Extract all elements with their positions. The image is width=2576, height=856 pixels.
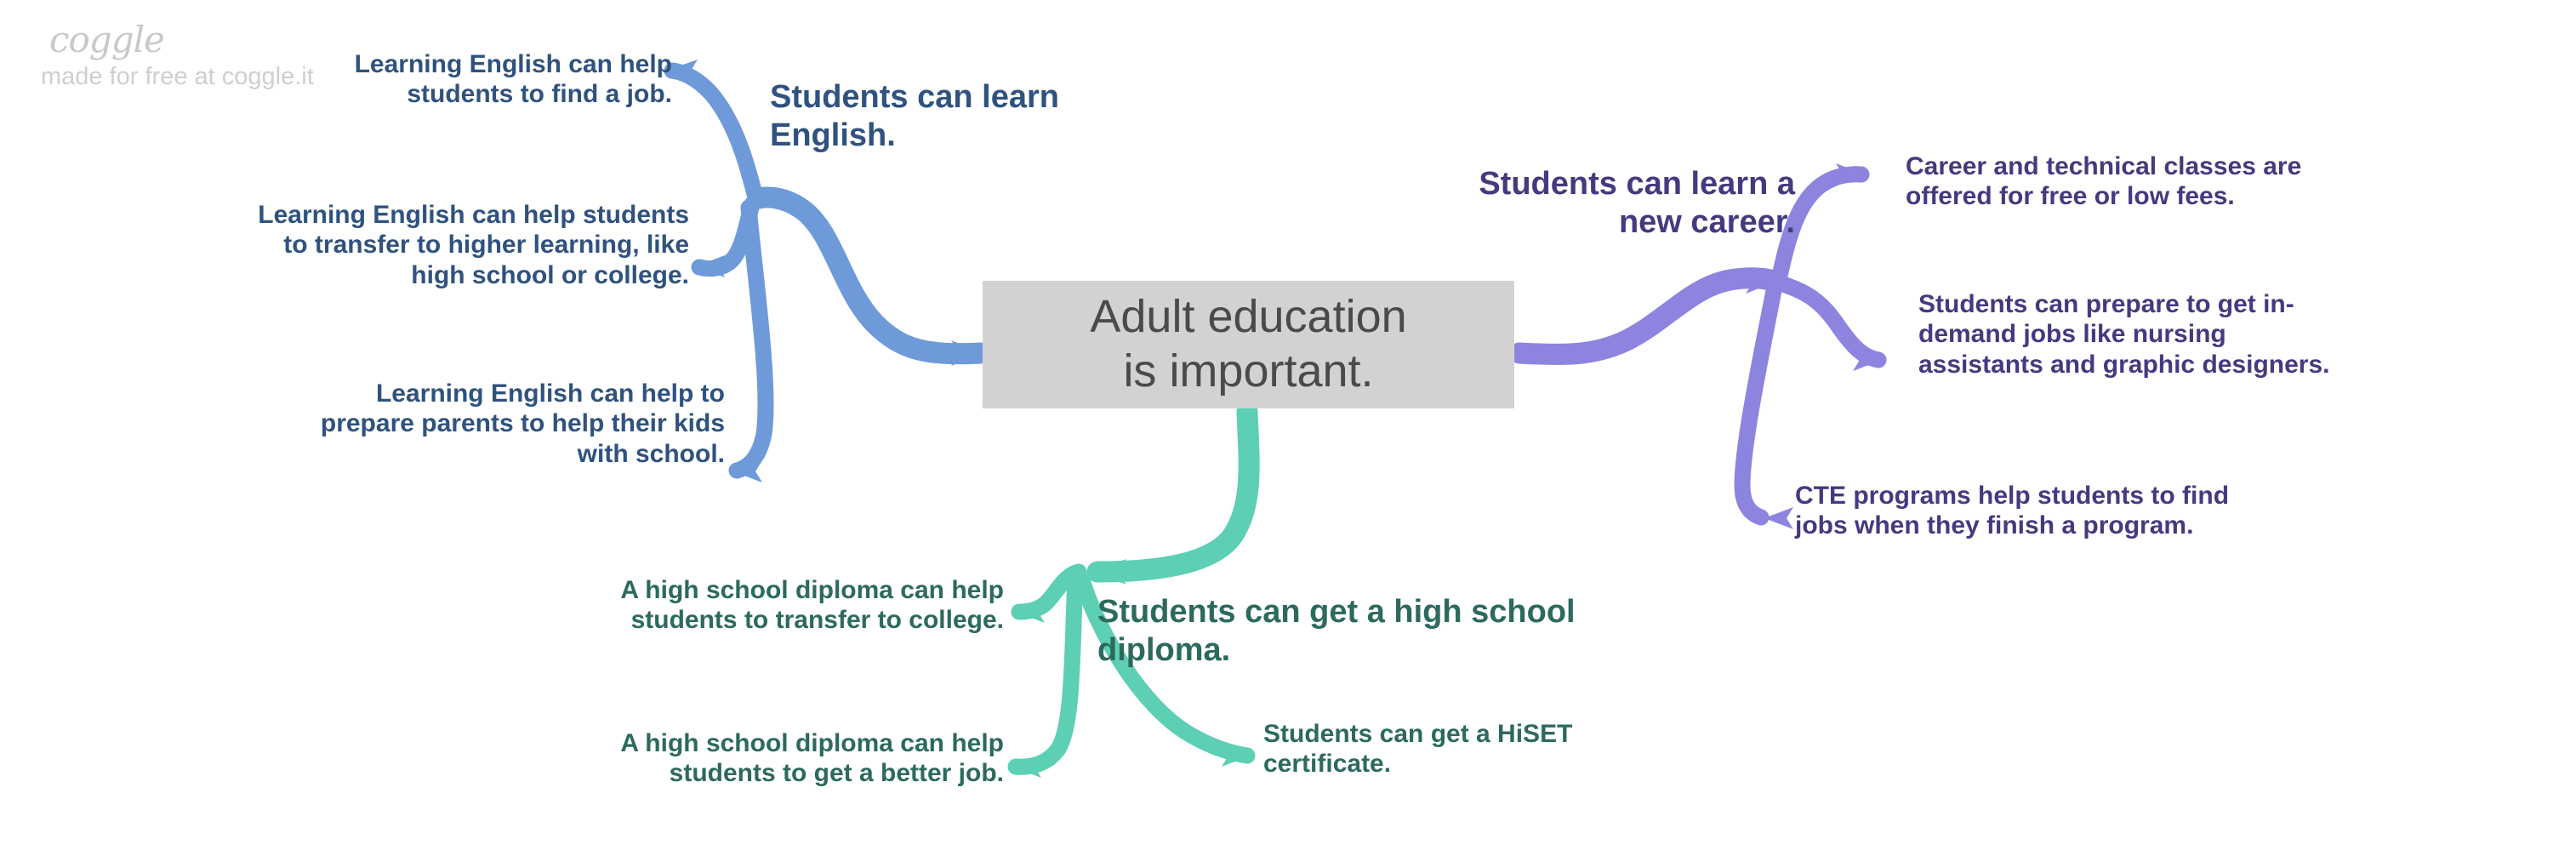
connector-green-trunk (1097, 412, 1249, 572)
leaf-diploma-transfer-college[interactable]: A high school diploma can help students … (459, 575, 1004, 636)
mindmap-canvas[interactable]: coggle made for free at coggle.it Adult … (0, 0, 2576, 856)
connector-blue-trunk-arrow (951, 340, 983, 366)
leaf-english-prepare-parents[interactable]: Learning English can help to prepare par… (111, 379, 725, 469)
branch-head-new-career[interactable]: Students can learn a new career. (1310, 165, 1795, 242)
connector-green-child-2 (1016, 579, 1075, 767)
leaf-english-higher-learning[interactable]: Learning English can help students to tr… (51, 200, 689, 290)
branch-head-learn-english[interactable]: Students can learn English. (770, 78, 1212, 155)
connector-blue-child-1 (672, 71, 755, 197)
connector-green-child-1-arrow (1016, 601, 1045, 623)
connector-purple-child-3-arrow (1764, 507, 1793, 529)
leaf-diploma-hiset-certificate[interactable]: Students can get a HiSET certificate. (1263, 719, 1774, 779)
connector-green-child-1 (1019, 572, 1079, 612)
connector-purple-child-2-arrow (1853, 349, 1882, 371)
connector-green-child-2-arrow (1012, 756, 1041, 778)
connector-blue-child-2 (699, 204, 752, 269)
connector-green-trunk-arrow (1094, 559, 1126, 585)
leaf-career-in-demand-jobs[interactable]: Students can prepare to get in- demand j… (1918, 289, 2531, 379)
connector-blue-child-1-arrow (669, 60, 698, 82)
connector-blue-child-2-arrow (696, 255, 725, 277)
connector-green-child-3-arrow (1222, 745, 1251, 767)
leaf-english-find-job[interactable]: Learning English can help students to fi… (119, 49, 672, 110)
root-node-label: Adult education is important. (1090, 290, 1406, 398)
connector-purple-child-2 (1783, 284, 1878, 360)
connector-purple-child-3 (1742, 286, 1775, 517)
connector-blue-child-3-arrow (733, 460, 762, 482)
branch-head-high-school-diploma[interactable]: Students can get a high school diploma. (1097, 593, 1778, 670)
leaf-career-technical-classes[interactable]: Career and technical classes are offered… (1906, 151, 2501, 212)
leaf-diploma-better-job[interactable]: A high school diploma can help students … (442, 728, 1004, 789)
connector-purple-trunk (1519, 278, 1775, 355)
root-node[interactable]: Adult education is important. (983, 281, 1514, 408)
connector-purple-trunk-arrow (1746, 268, 1778, 294)
connector-purple-child-1-arrow (1836, 163, 1865, 185)
leaf-career-cte-programs[interactable]: CTE programs help students to find jobs … (1795, 481, 2425, 541)
connector-blue-trunk (759, 197, 980, 354)
connector-blue-child-3 (737, 208, 766, 471)
